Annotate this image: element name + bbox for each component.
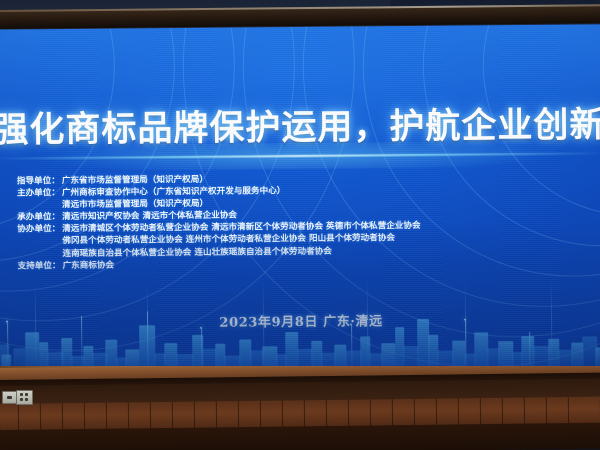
stage-wall	[0, 366, 600, 450]
light-switch[interactable]	[16, 390, 33, 405]
switch-rocker	[20, 393, 23, 396]
switch-rocker	[25, 398, 28, 401]
conference-room-photo: 强化商标品牌保护运用，护航企业创新发展 指导单位： 广东省市场监督管理局（知识产…	[0, 0, 600, 450]
outlet-slot	[7, 396, 12, 399]
organizer-label: 承办单位：	[0, 211, 60, 224]
power-outlet[interactable]	[2, 391, 17, 404]
switch-rocker	[25, 393, 28, 396]
organizer-label: 主办单位：	[0, 187, 60, 200]
led-screen: 强化商标品牌保护运用，护航企业创新发展 指导单位： 广东省市场监督管理局（知识产…	[0, 24, 600, 374]
switch-rocker	[20, 398, 23, 401]
organizer-label: 指导单位：	[0, 175, 60, 188]
organizer-value: 广州商标审查协作中心（广东省知识产权开发与服务中心）	[60, 185, 286, 199]
screen-content: 强化商标品牌保护运用，护航企业创新发展 指导单位： 广东省市场监督管理局（知识产…	[0, 24, 600, 374]
screen-bottom-shade	[0, 219, 600, 374]
